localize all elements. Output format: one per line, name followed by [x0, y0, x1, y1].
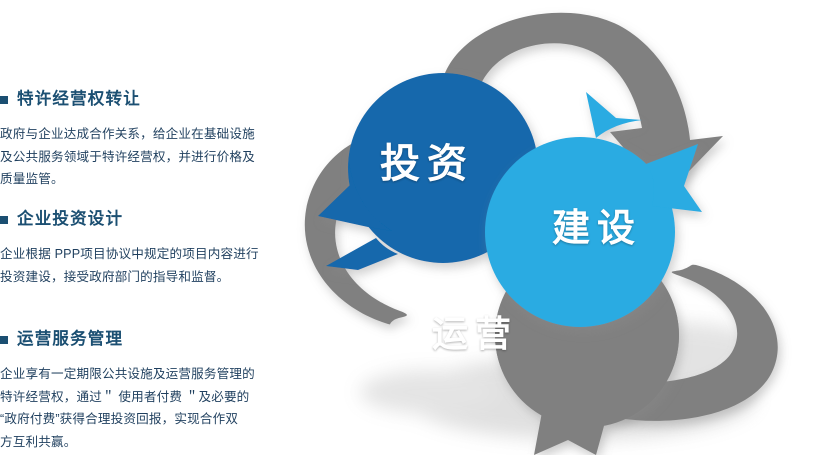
section-heading-label: 企业投资设计	[17, 209, 123, 229]
section-operation-service-management: 运营服务管理 企业享有一定期限公共设施及运营服务管理的 特许经营权，通过＂ 使用…	[0, 328, 286, 453]
section-body-text: 企业享有一定期限公共设施及运营服务管理的 特许经营权，通过＂ 使用者付费 ＂及必…	[0, 363, 272, 453]
section-heading: 企业投资设计	[0, 208, 286, 230]
description-list: 特许经营权转让 政府与企业达成合作关系，给企业在基础设施 及公共服务领域于特许经…	[0, 0, 290, 455]
square-bullet-icon	[0, 96, 8, 104]
section-body-text: 企业根据 PPP项目协议中规定的项目内容进行 投资建设，接受政府部门的指导和监督…	[0, 243, 272, 288]
cycle-diagram-svg	[280, 0, 840, 455]
square-bullet-icon	[0, 216, 8, 224]
section-heading-label: 特许经营权转让	[17, 89, 141, 109]
ppp-cycle-diagram: 投资 建设 运营	[280, 0, 840, 455]
section-heading: 运营服务管理	[0, 328, 286, 350]
section-enterprise-investment-design: 企业投资设计 企业根据 PPP项目协议中规定的项目内容进行 投资建设，接受政府部…	[0, 208, 286, 288]
section-body-text: 政府与企业达成合作关系，给企业在基础设施 及公共服务领域于特许经营权，并进行价格…	[0, 123, 272, 191]
square-bullet-icon	[0, 336, 8, 344]
screenshot-root: 特许经营权转让 政府与企业达成合作关系，给企业在基础设施 及公共服务领域于特许经…	[0, 0, 840, 455]
section-heading: 特许经营权转让	[0, 88, 286, 110]
section-franchise-transfer: 特许经营权转让 政府与企业达成合作关系，给企业在基础设施 及公共服务领域于特许经…	[0, 88, 286, 191]
section-heading-label: 运营服务管理	[17, 329, 123, 349]
